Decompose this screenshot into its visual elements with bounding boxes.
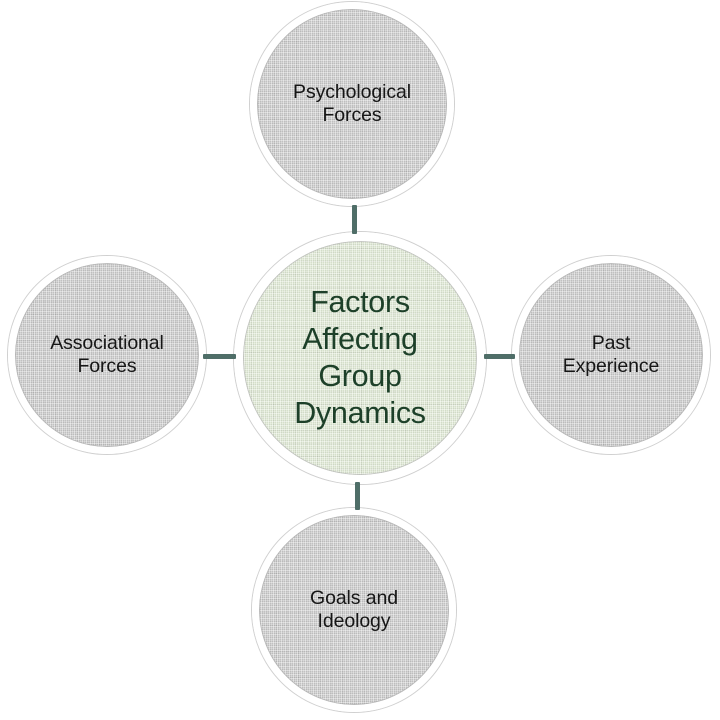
node-center-hub[interactable]: Factors Affecting Group Dynamics — [234, 232, 486, 484]
connector-center-to-goals-and-ideology — [355, 482, 360, 510]
node-goals-and-ideology-label: Goals and Ideology — [302, 587, 406, 633]
node-psychological-forces[interactable]: Psychological Forces — [250, 2, 454, 206]
node-associational-forces-label: Associational Forces — [42, 332, 172, 378]
connector-center-to-past-experience — [484, 354, 515, 359]
connector-center-to-associational-forces — [203, 354, 236, 359]
connector-center-to-psychological-forces — [352, 205, 357, 234]
node-psychological-forces-label: Psychological Forces — [285, 81, 419, 127]
node-associational-forces[interactable]: Associational Forces — [8, 256, 206, 454]
node-past-experience-label: Past Experience — [555, 332, 668, 378]
node-past-experience[interactable]: Past Experience — [512, 256, 710, 454]
node-goals-and-ideology[interactable]: Goals and Ideology — [252, 508, 456, 712]
node-center-hub-label: Factors Affecting Group Dynamics — [286, 284, 433, 433]
group-dynamics-diagram: Psychological Forces Associational Force… — [0, 0, 720, 720]
